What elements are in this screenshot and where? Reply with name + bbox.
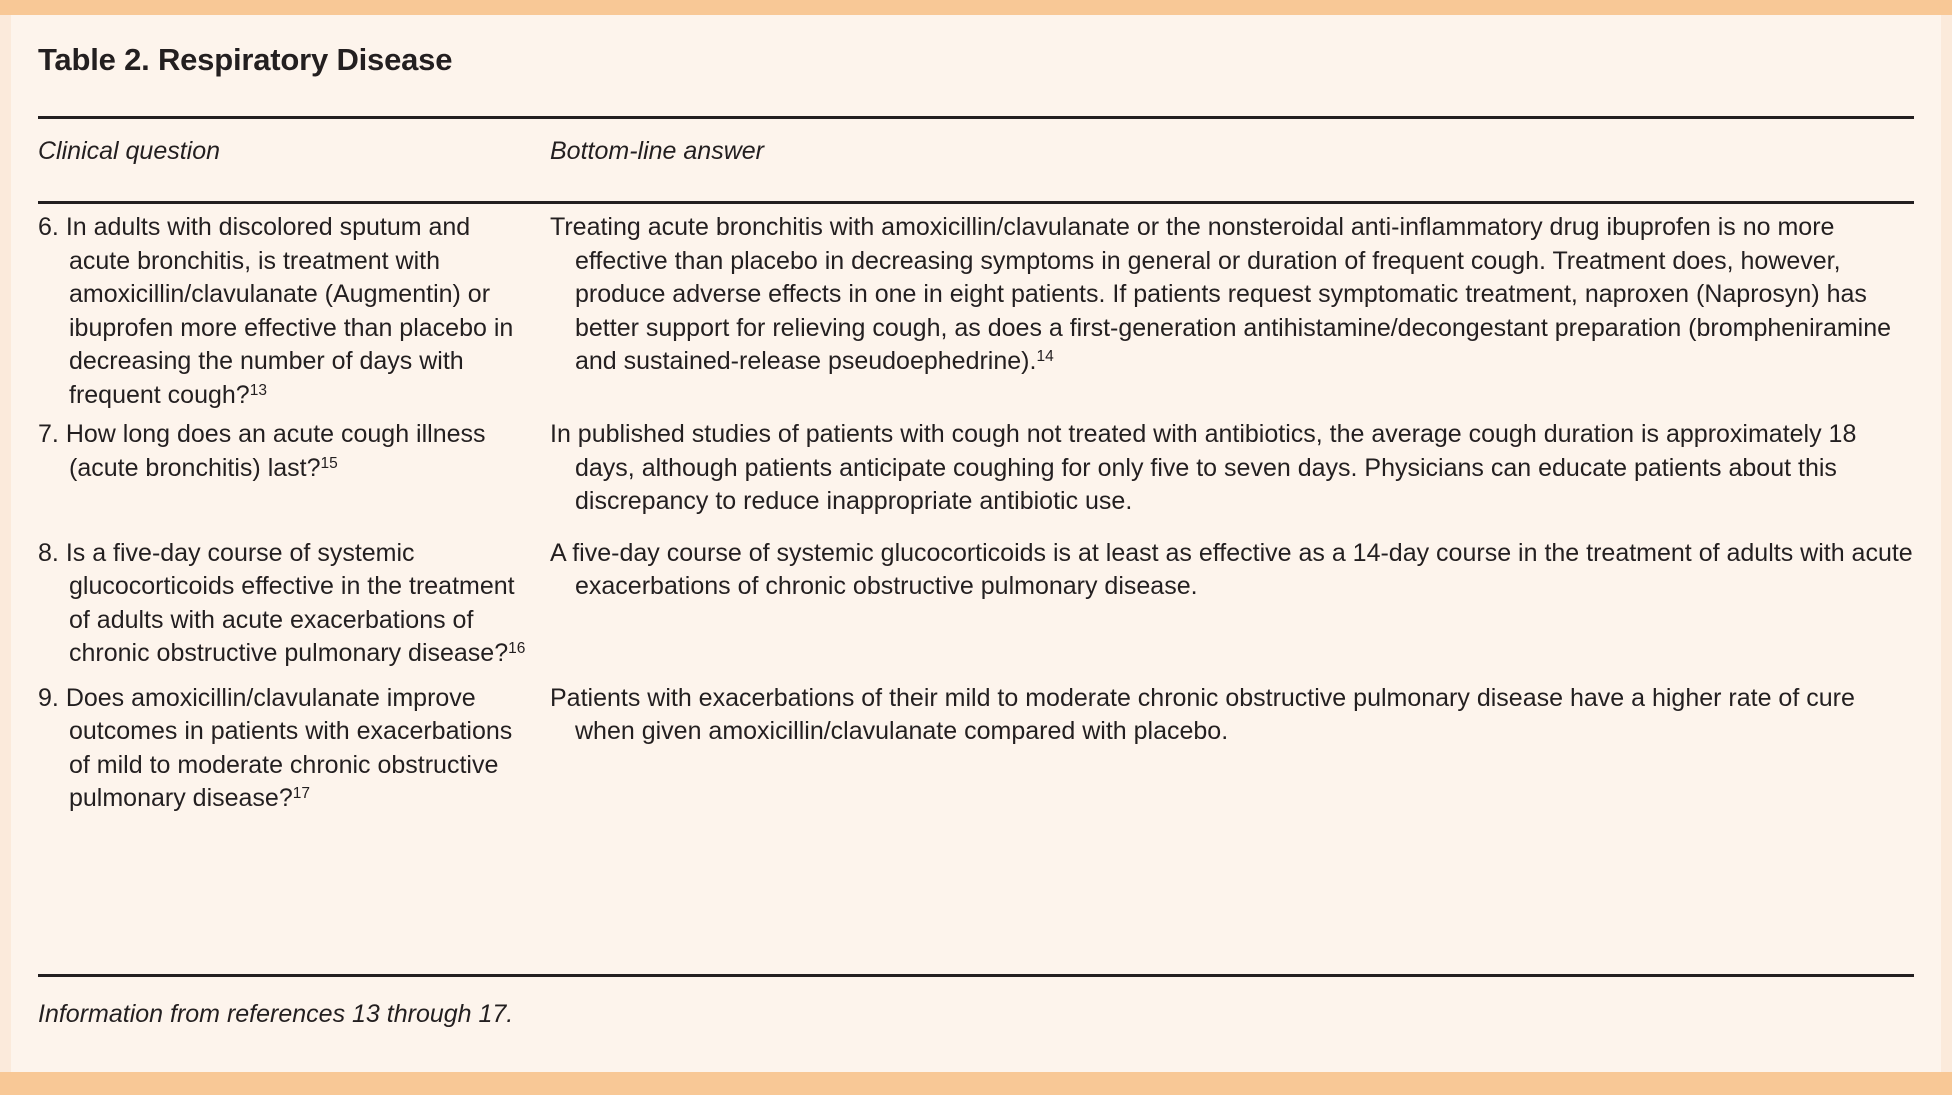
- rule-above-headers: [38, 116, 1914, 119]
- answer-cell: A five-day course of systemic glucocorti…: [550, 537, 1914, 671]
- table-row: 7. How long does an acute cough illness …: [38, 418, 1914, 519]
- table-page: Table 2. Respiratory Disease Clinical qu…: [0, 0, 1952, 1095]
- question-reference: 16: [508, 640, 525, 657]
- table-footnote: Information from references 13 through 1…: [38, 1000, 513, 1029]
- table-inner: Table 2. Respiratory Disease Clinical qu…: [38, 15, 1914, 1072]
- answer-reference: 14: [1036, 348, 1053, 365]
- question-number: 8.: [38, 539, 59, 567]
- page-title: Table 2. Respiratory Disease: [38, 42, 452, 78]
- question-number: 7.: [38, 420, 59, 448]
- question-cell: 9. Does amoxicillin/clavulanate improve …: [38, 682, 550, 816]
- question-number: 6.: [38, 213, 59, 241]
- question-text: How long does an acute cough illness (ac…: [66, 420, 486, 482]
- table-body: 6. In adults with discolored sputum and …: [38, 211, 1914, 816]
- rule-below-headers: [38, 201, 1914, 204]
- right-margin-strip: [1941, 15, 1952, 1072]
- column-header-clinical-question: Clinical question: [38, 137, 220, 166]
- question-cell: 8. Is a five-day course of systemic gluc…: [38, 537, 550, 671]
- question-reference: 17: [293, 785, 310, 802]
- rule-above-footnote: [38, 974, 1914, 977]
- answer-text: Treating acute bronchitis with amoxicill…: [550, 213, 1891, 375]
- question-reference: 13: [250, 381, 267, 398]
- top-accent-band: [0, 0, 1952, 15]
- question-text: Does amoxicillin/clavulanate improve out…: [66, 684, 513, 813]
- table-row: 9. Does amoxicillin/clavulanate improve …: [38, 682, 1914, 816]
- table-row: 6. In adults with discolored sputum and …: [38, 211, 1914, 412]
- bottom-accent-band: [0, 1072, 1952, 1095]
- question-cell: 7. How long does an acute cough illness …: [38, 418, 550, 519]
- answer-text: In published studies of patients with co…: [550, 420, 1856, 515]
- table-content-area: Table 2. Respiratory Disease Clinical qu…: [11, 15, 1941, 1072]
- answer-cell: Treating acute bronchitis with amoxicill…: [550, 211, 1914, 412]
- table-row: 8. Is a five-day course of systemic gluc…: [38, 537, 1914, 671]
- question-reference: 15: [321, 454, 338, 471]
- column-header-row: Clinical question Bottom-line answer: [38, 127, 1914, 187]
- question-text: Is a five-day course of systemic glucoco…: [66, 539, 515, 668]
- answer-text: Patients with exacerbations of their mil…: [550, 684, 1855, 746]
- left-margin-strip: [0, 15, 11, 1072]
- answer-cell: Patients with exacerbations of their mil…: [550, 682, 1914, 816]
- question-cell: 6. In adults with discolored sputum and …: [38, 211, 550, 412]
- column-header-bottom-line-answer: Bottom-line answer: [550, 137, 764, 166]
- answer-text: A five-day course of systemic glucocorti…: [550, 539, 1913, 601]
- answer-cell: In published studies of patients with co…: [550, 418, 1914, 519]
- question-number: 9.: [38, 684, 59, 712]
- question-text: In adults with discolored sputum and acu…: [66, 213, 513, 409]
